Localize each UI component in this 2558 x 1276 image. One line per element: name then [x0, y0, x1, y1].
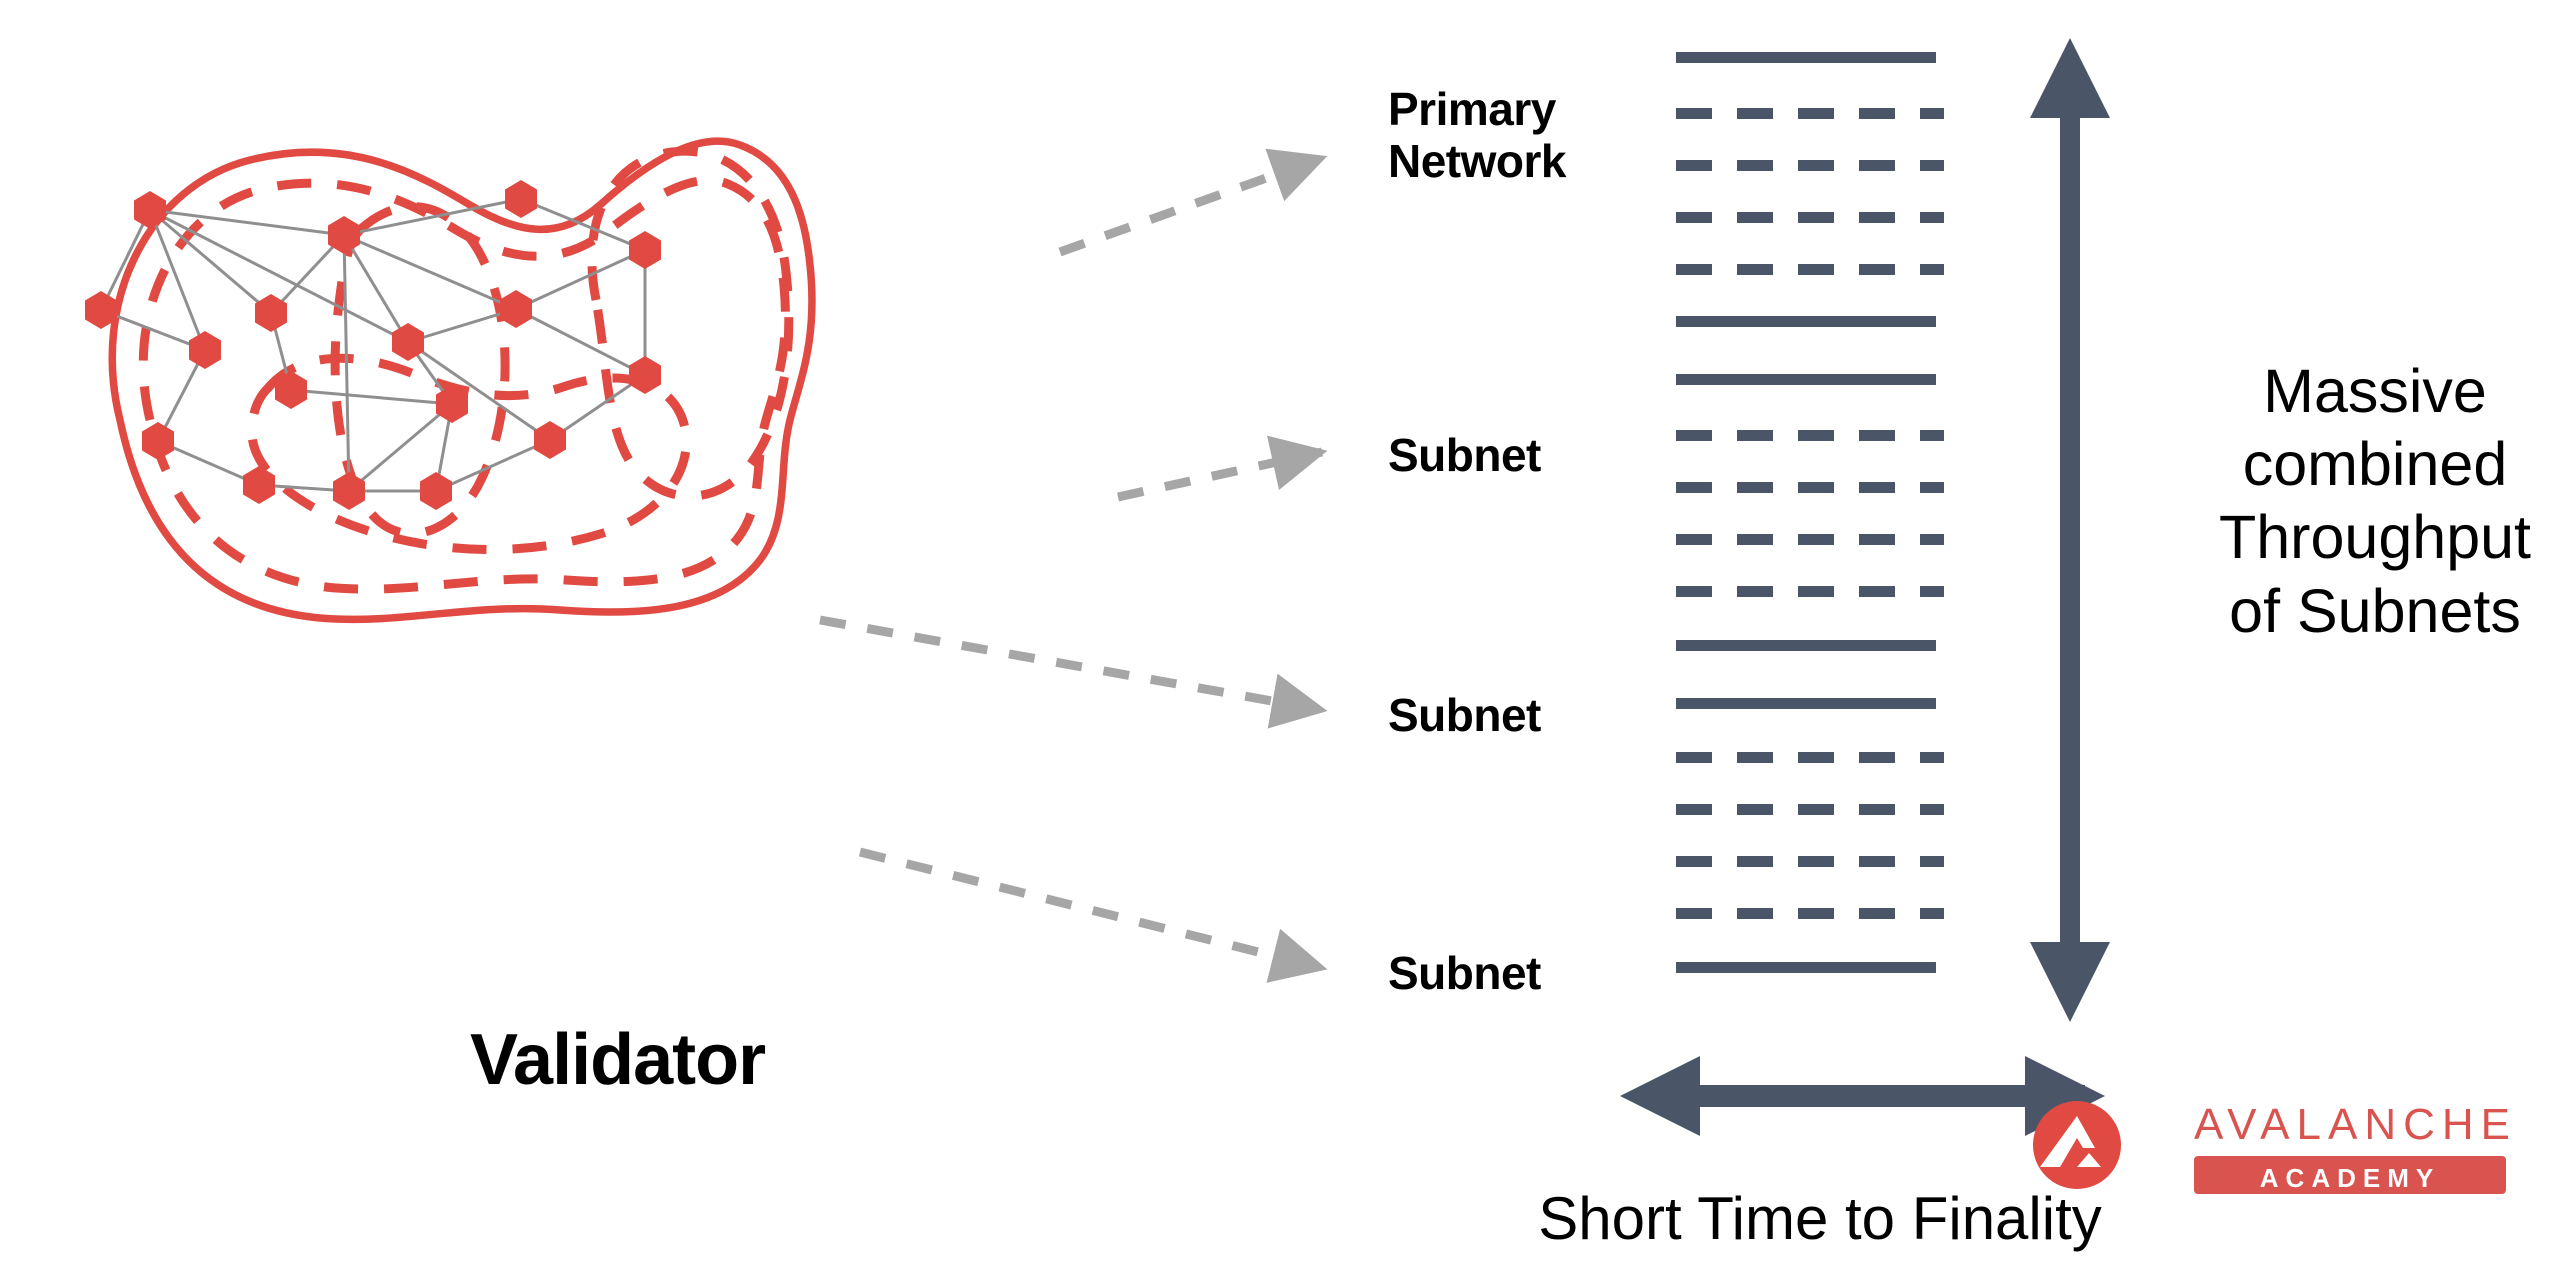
callout-arrow-primary-network: [1060, 158, 1322, 252]
network-cluster: [85, 141, 812, 619]
validator-node-icon[interactable]: [243, 466, 275, 504]
block-bar-dash: [1737, 908, 1773, 919]
block-bar-dash: [1676, 752, 1712, 763]
block-bar-dash: [1920, 804, 1944, 815]
block-bar-dash: [1920, 482, 1944, 493]
block-bar-dash: [1737, 804, 1773, 815]
block-bar-dash: [1920, 108, 1944, 119]
vertical-throughput-arrow: [2030, 38, 2110, 1022]
block-bar-dash: [1798, 752, 1834, 763]
block-bar-dash: [1676, 212, 1712, 223]
validator-node-icon[interactable]: [333, 472, 365, 510]
logo-academy-badge-text: ACADEMY: [2194, 1163, 2506, 1194]
block-bar-dash: [1798, 534, 1834, 545]
validator-node-icon[interactable]: [189, 331, 221, 369]
block-bar-solid: [1676, 52, 1936, 63]
block-bar-dash: [1798, 264, 1834, 275]
block-bar-dash: [1798, 856, 1834, 867]
block-bar-dash: [1798, 160, 1834, 171]
validator-node-icon[interactable]: [629, 231, 661, 269]
block-bar-dash: [1737, 160, 1773, 171]
block-bar-dash: [1737, 212, 1773, 223]
block-bar-dash: [1859, 534, 1895, 545]
block-bar-dash: [1676, 264, 1712, 275]
callout-arrow-subnet-2: [820, 620, 1322, 710]
legend-label-validator: Validator: [470, 1020, 765, 1101]
block-bar-dash: [1676, 108, 1712, 119]
block-bar-dash: [1859, 586, 1895, 597]
validator-node-icon[interactable]: [505, 180, 537, 218]
block-bar-dash: [1859, 264, 1895, 275]
block-bar-dash: [1798, 108, 1834, 119]
block-bar-dash: [1859, 482, 1895, 493]
block-bar-dash: [1859, 752, 1895, 763]
validator-node-icon[interactable]: [134, 191, 166, 229]
block-bar-dash: [1798, 908, 1834, 919]
validator-node-icon[interactable]: [142, 422, 174, 460]
validator-node-icon[interactable]: [534, 421, 566, 459]
callout-label-primary-network: Primary Network: [1388, 84, 1566, 187]
block-bar-solid: [1676, 374, 1936, 385]
block-bar-solid: [1676, 640, 1936, 651]
block-bar-dash: [1859, 430, 1895, 441]
block-bar-dash: [1920, 430, 1944, 441]
block-bar-dash: [1676, 482, 1712, 493]
block-bar-solid: [1676, 316, 1936, 327]
callout-label-subnet-3: Subnet: [1388, 948, 1541, 1000]
block-bar-dash: [1737, 430, 1773, 441]
block-bar-dash: [1859, 108, 1895, 119]
diagram-canvas: Primary Network Subnet Subnet Subnet Val…: [0, 0, 2558, 1276]
throughput-bar-stack: [1676, 52, 1944, 973]
callout-arrow-subnet-3: [860, 852, 1322, 968]
diagram-svg: [0, 0, 2558, 1276]
block-bar-dash: [1920, 534, 1944, 545]
block-bar-dash: [1920, 160, 1944, 171]
validator-node-icon[interactable]: [629, 356, 661, 394]
block-bar-dash: [1798, 804, 1834, 815]
boundary-subnet-outer: [143, 180, 785, 589]
block-bar-dash: [1737, 856, 1773, 867]
block-bar-solid: [1676, 698, 1936, 709]
block-bar-dash: [1798, 586, 1834, 597]
block-bar-dash: [1920, 752, 1944, 763]
validator-node-icon[interactable]: [500, 290, 532, 328]
block-bar-dash: [1737, 108, 1773, 119]
block-bar-dash: [1737, 752, 1773, 763]
block-bar-dash: [1676, 804, 1712, 815]
callout-arrows: [820, 158, 1322, 968]
vertical-arrow-label: Massive combined Throughput of Subnets: [2192, 355, 2558, 648]
block-bar-dash: [1737, 586, 1773, 597]
block-bar-dash: [1676, 586, 1712, 597]
callout-arrow-subnet-1: [1118, 452, 1322, 497]
block-bar-dash: [1859, 856, 1895, 867]
block-bar-dash: [1920, 908, 1944, 919]
block-bar-dash: [1920, 856, 1944, 867]
horizontal-arrow-label: Short Time to Finality: [1530, 1185, 2110, 1252]
block-bar-dash: [1676, 160, 1712, 171]
boundary-subnet-right: [592, 151, 789, 496]
logo-wordmark: AVALANCHE: [2194, 1100, 2517, 1150]
block-bar-dash: [1676, 908, 1712, 919]
horizontal-finality-arrow: [1620, 1056, 2105, 1136]
block-bar-solid: [1676, 962, 1936, 973]
block-bar-dash: [1798, 212, 1834, 223]
block-bar-dash: [1737, 482, 1773, 493]
block-bar-dash: [1737, 534, 1773, 545]
block-bar-dash: [1920, 264, 1944, 275]
block-bar-dash: [1798, 430, 1834, 441]
validator-node-icon[interactable]: [420, 472, 452, 510]
block-bar-dash: [1798, 482, 1834, 493]
callout-label-subnet-1: Subnet: [1388, 430, 1541, 482]
block-bar-dash: [1859, 160, 1895, 171]
block-bar-dash: [1676, 856, 1712, 867]
block-bar-dash: [1737, 264, 1773, 275]
block-bar-dash: [1676, 430, 1712, 441]
block-bar-dash: [1920, 212, 1944, 223]
block-bar-dash: [1676, 534, 1712, 545]
avalanche-logo-icon: [2033, 1101, 2121, 1189]
block-bar-dash: [1859, 804, 1895, 815]
block-bar-dash: [1859, 212, 1895, 223]
block-bar-dash: [1920, 586, 1944, 597]
callout-label-subnet-2: Subnet: [1388, 690, 1541, 742]
block-bar-dash: [1859, 908, 1895, 919]
